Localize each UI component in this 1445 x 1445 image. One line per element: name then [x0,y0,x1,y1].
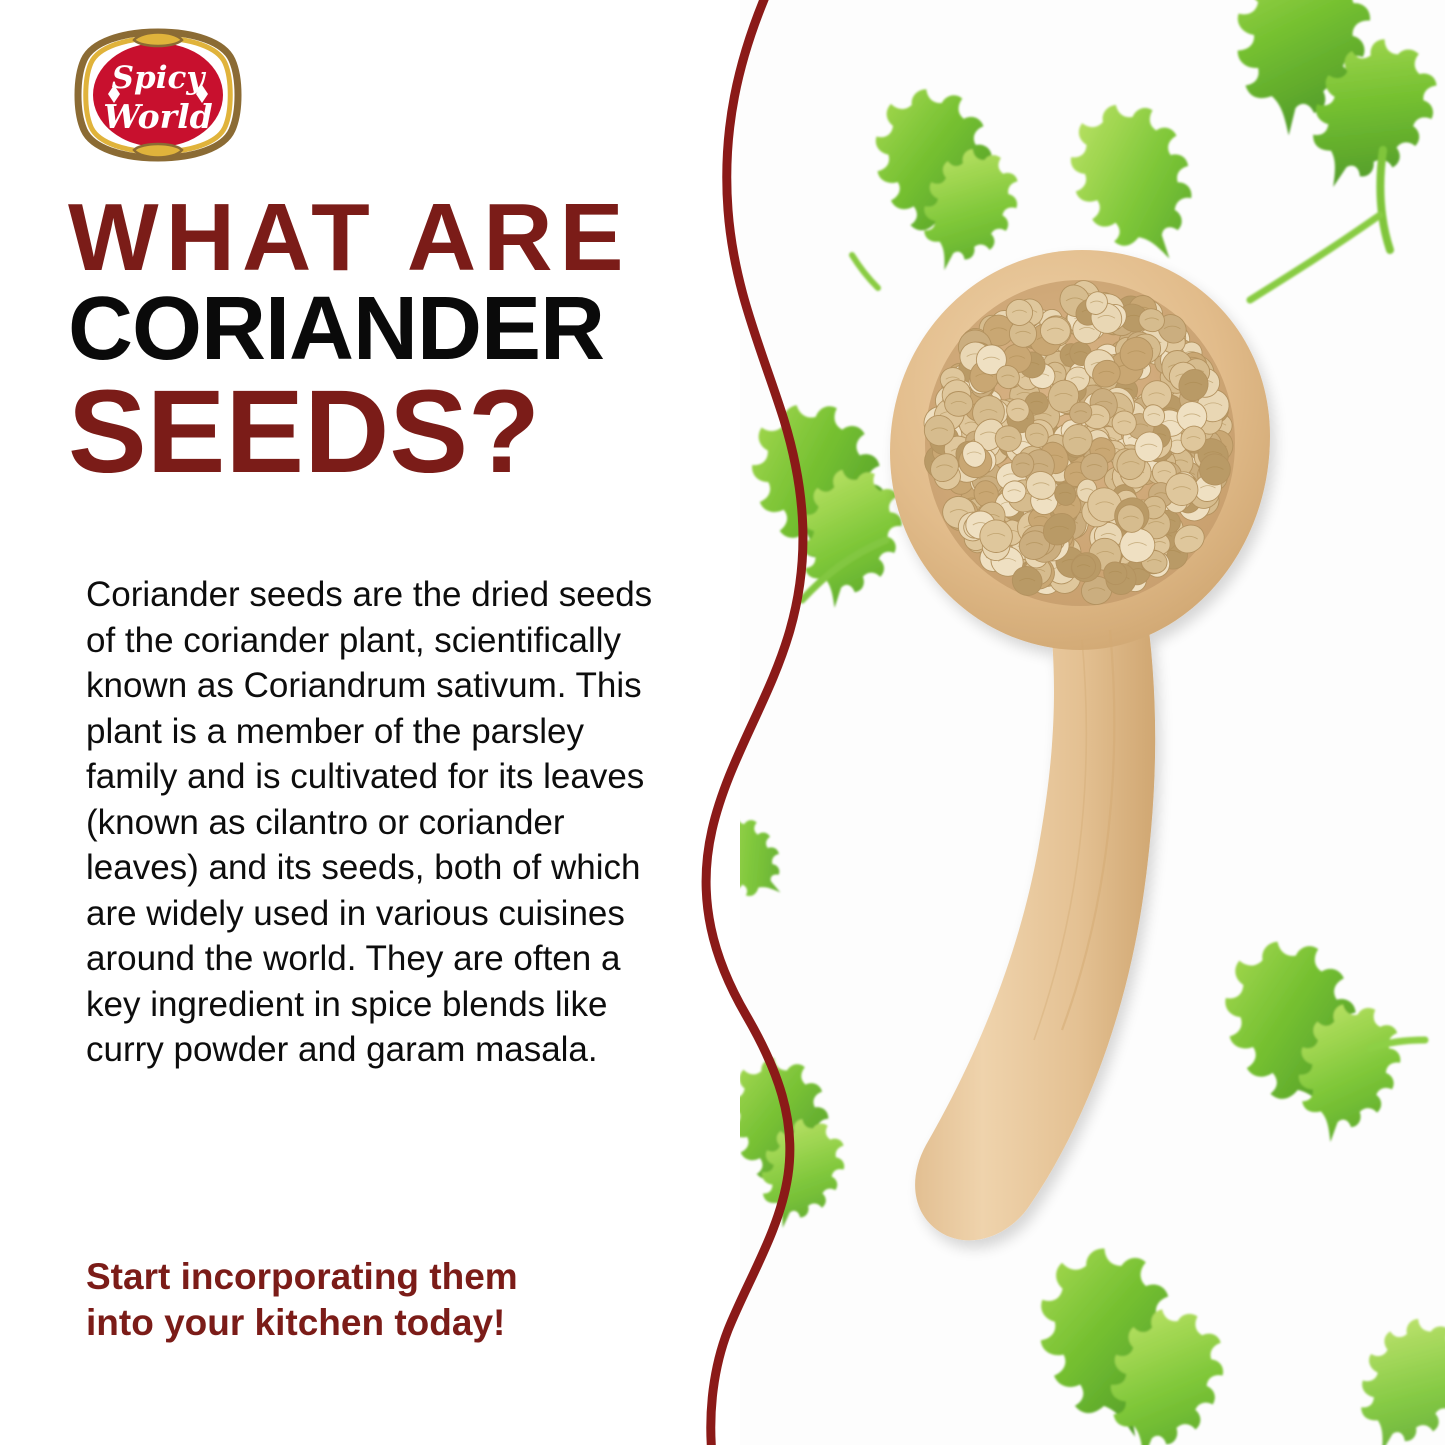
product-photo-panel [690,0,1445,1445]
cta-line-1: Start incorporating them [86,1254,686,1300]
title-line-what-are: WHAT ARE [68,192,708,283]
logo-text-line-2: World [103,97,212,136]
page-title: WHAT ARE CORIANDER SEEDS? [68,192,708,488]
coriander-seeds-in-wooden-spoon-photo [690,0,1445,1445]
logo-artwork: Spicy World [72,26,244,164]
title-line-coriander: CORIANDER [68,284,708,374]
cta-line-2: into your kitchen today! [86,1300,686,1346]
call-to-action: Start incorporating them into your kitch… [86,1254,686,1346]
title-line-seeds: SEEDS? [68,376,708,488]
spicy-world-logo[interactable]: Spicy World [72,26,244,164]
logo-flourish-top [134,33,182,47]
description-paragraph: Coriander seeds are the dried seeds of t… [86,572,666,1073]
logo-flourish-bottom [134,144,182,158]
text-panel: Spicy World WHAT ARE CORIANDER SEEDS? Co… [0,0,740,1445]
infographic-canvas: Spicy World WHAT ARE CORIANDER SEEDS? Co… [0,0,1445,1445]
description-block: Coriander seeds are the dried seeds of t… [86,572,666,1073]
logo-text-line-1: Spicy [112,60,207,96]
